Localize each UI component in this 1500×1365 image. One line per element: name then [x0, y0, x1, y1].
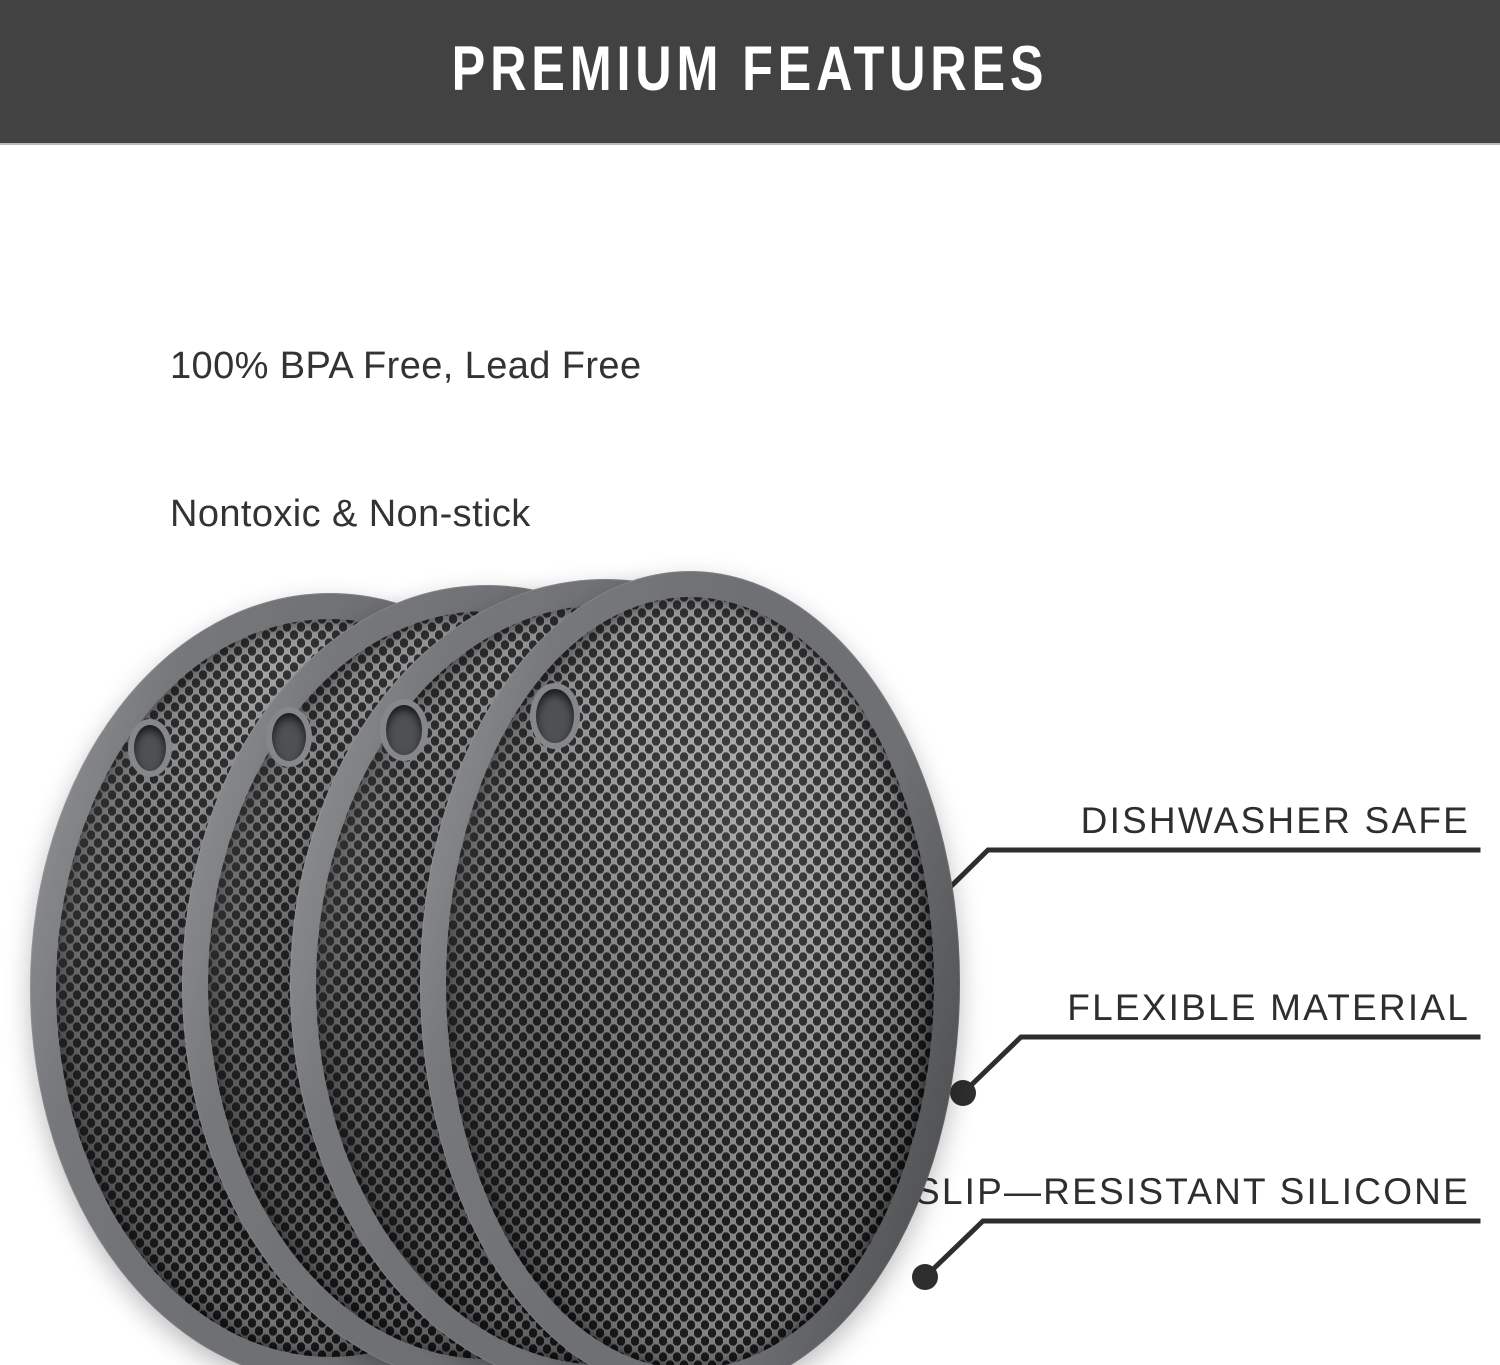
- page-title: PREMIUM FEATURES: [150, 0, 1350, 143]
- premium-features-infographic: PREMIUM FEATURES 100% BPA Free, Lead Fre…: [0, 0, 1500, 1365]
- callout-1-leader: [917, 850, 1478, 920]
- intro-line-2: Nontoxic & Non-stick: [170, 490, 642, 539]
- trivet-2-hanging-hole: [272, 713, 306, 761]
- callout-2-leader: [950, 1037, 1478, 1106]
- callout-label-slip-resistant-silicone: SLIP—RESISTANT SILICONE: [915, 1171, 1470, 1213]
- callout-label-dishwasher-safe: DISHWASHER SAFE: [1081, 800, 1470, 842]
- callout-label-flexible-material: FLEXIBLE MATERIAL: [1067, 987, 1470, 1029]
- trivet-4: [420, 571, 960, 1365]
- callout-3-leader: [912, 1221, 1478, 1290]
- trivet-4-honeycomb-face: [446, 597, 934, 1365]
- trivet-1-hanging-hole: [134, 725, 166, 771]
- header-bar: PREMIUM FEATURES: [0, 0, 1500, 143]
- intro-line-1: 100% BPA Free, Lead Free: [170, 342, 642, 391]
- trivet-3-hanging-hole: [386, 705, 422, 755]
- product-image: [0, 545, 990, 1365]
- header-divider: [0, 143, 1500, 145]
- trivet-4-hanging-hole: [536, 689, 574, 743]
